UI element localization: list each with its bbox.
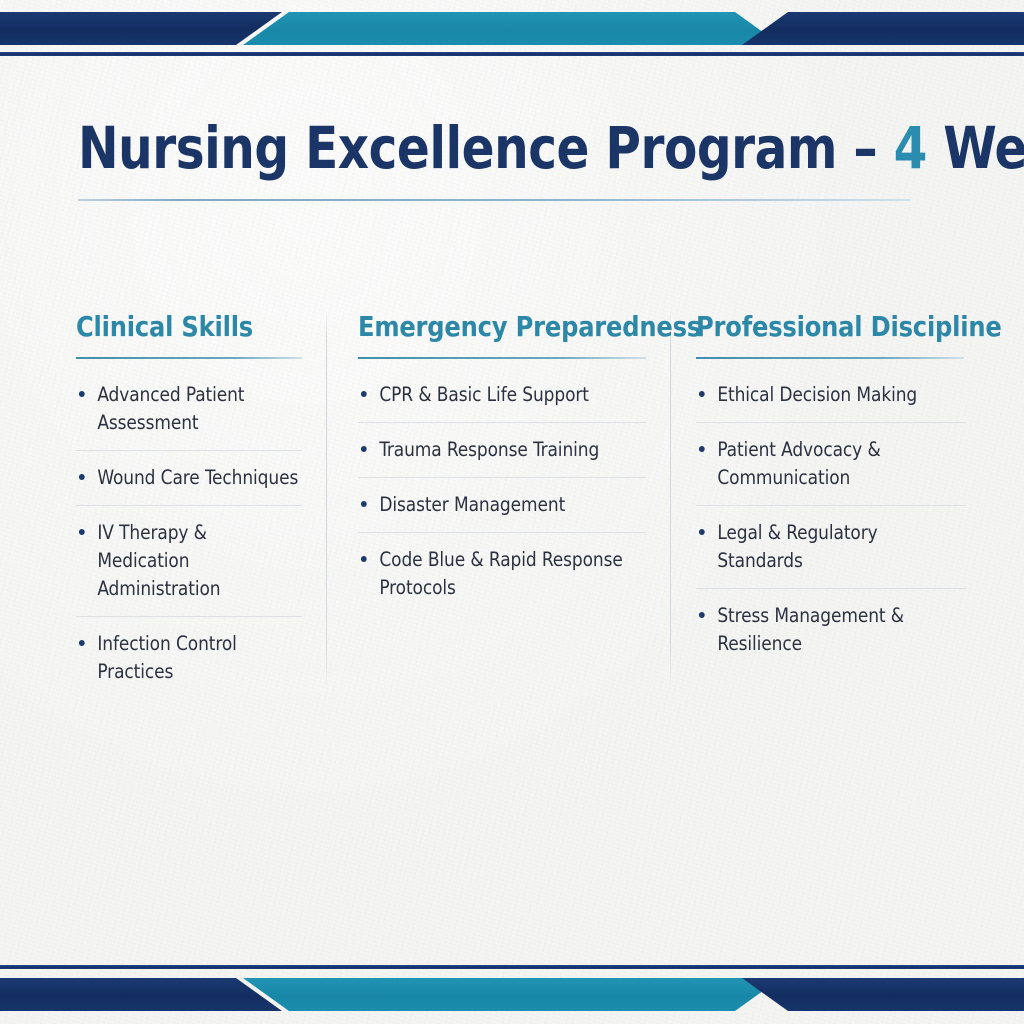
bullet-icon — [79, 640, 85, 646]
bullet-icon — [79, 391, 85, 397]
list-item-label: Wound Care Techniques — [97, 466, 298, 489]
list-item-label: Ethical Decision Making — [717, 383, 917, 406]
list-item-label: CPR & Basic Life Support — [379, 383, 589, 406]
list-item-divider — [696, 588, 966, 589]
bullet-icon — [361, 501, 367, 507]
list-item-label: Stress Management & Resilience — [717, 604, 904, 655]
top-banner — [0, 0, 1024, 60]
column-item-list: Ethical Decision Making Patient Advocacy… — [696, 381, 976, 658]
bullet-icon — [699, 612, 705, 618]
bullet-icon — [361, 556, 367, 562]
bottom-banner-navy-left-band — [0, 978, 282, 1011]
column-heading: Emergency Preparedness — [358, 310, 636, 344]
column-heading-underline — [76, 357, 302, 359]
list-item-divider — [76, 450, 302, 451]
column-emergency-preparedness: Emergency Preparedness CPR & Basic Life … — [358, 310, 648, 602]
list-item-label: Legal & Regulatory Standards — [717, 521, 877, 572]
column-clinical-skills: Clinical Skills Advanced Patient Assessm… — [76, 310, 306, 686]
column-divider-1 — [326, 310, 327, 690]
bullet-icon — [361, 446, 367, 452]
top-banner-hairline-rule — [0, 52, 1024, 56]
bullet-icon — [699, 446, 705, 452]
page-title-lead: Nursing Excellence Program – — [78, 114, 894, 182]
bullet-icon — [79, 474, 85, 480]
bullet-icon — [699, 529, 705, 535]
bottom-banner-teal-center-band — [243, 978, 781, 1011]
bottom-banner — [0, 960, 1024, 1024]
page-title-accent-number: 4 — [894, 114, 927, 182]
list-item[interactable]: Advanced Patient Assessment — [76, 381, 299, 437]
list-item[interactable]: IV Therapy & Medication Administration — [76, 519, 299, 603]
column-professional-discipline: Professional Discipline Ethical Decision… — [696, 310, 976, 658]
list-item[interactable]: Infection Control Practices — [76, 630, 299, 686]
list-item-divider — [696, 422, 966, 423]
list-item-label: Trauma Response Training — [379, 438, 599, 461]
list-item[interactable]: Wound Care Techniques — [76, 464, 299, 492]
columns-container: Clinical Skills Advanced Patient Assessm… — [0, 310, 1024, 700]
list-item-label: IV Therapy & Medication Administration — [97, 521, 220, 600]
column-heading: Clinical Skills — [76, 310, 297, 344]
list-item[interactable]: Legal & Regulatory Standards — [696, 519, 968, 575]
bullet-icon — [699, 391, 705, 397]
list-item-divider — [358, 477, 646, 478]
list-item[interactable]: Disaster Management — [358, 491, 639, 519]
list-item-label: Disaster Management — [379, 493, 565, 516]
list-item[interactable]: Ethical Decision Making — [696, 381, 968, 409]
list-item-divider — [358, 532, 646, 533]
top-banner-navy-right-band — [742, 12, 1024, 45]
list-item[interactable]: CPR & Basic Life Support — [358, 381, 639, 409]
list-item-divider — [76, 616, 302, 617]
column-item-list: Advanced Patient Assessment Wound Care T… — [76, 381, 306, 686]
column-heading-underline — [358, 357, 646, 359]
list-item[interactable]: Stress Management & Resilience — [696, 602, 968, 658]
page-title: Nursing Excellence Program – 4 Weeks — [78, 113, 896, 183]
bullet-icon — [79, 529, 85, 535]
list-item-label: Advanced Patient Assessment — [97, 383, 244, 434]
top-banner-navy-left-band — [0, 12, 282, 45]
page-title-trail: Weeks — [927, 114, 1024, 182]
column-item-list: CPR & Basic Life Support Trauma Response… — [358, 381, 648, 602]
column-divider-2 — [670, 310, 671, 690]
bottom-banner-navy-right-band — [742, 978, 1024, 1011]
bullet-icon — [361, 391, 367, 397]
page-title-underline — [78, 199, 910, 201]
list-item-divider — [358, 422, 646, 423]
column-heading: Professional Discipline — [696, 310, 965, 344]
list-item[interactable]: Code Blue & Rapid Response Protocols — [358, 546, 639, 602]
top-banner-teal-center-band — [243, 12, 781, 45]
slide-content: Nursing Excellence Program – 4 Weeks Cli… — [0, 0, 1024, 1024]
list-item-label: Code Blue & Rapid Response Protocols — [379, 548, 622, 599]
list-item-label: Infection Control Practices — [97, 632, 236, 683]
list-item[interactable]: Trauma Response Training — [358, 436, 639, 464]
column-heading-underline — [696, 357, 964, 359]
list-item[interactable]: Patient Advocacy & Communication — [696, 436, 968, 492]
list-item-label: Patient Advocacy & Communication — [717, 438, 880, 489]
list-item-divider — [76, 505, 302, 506]
bottom-banner-hairline-rule — [0, 965, 1024, 969]
list-item-divider — [696, 505, 966, 506]
